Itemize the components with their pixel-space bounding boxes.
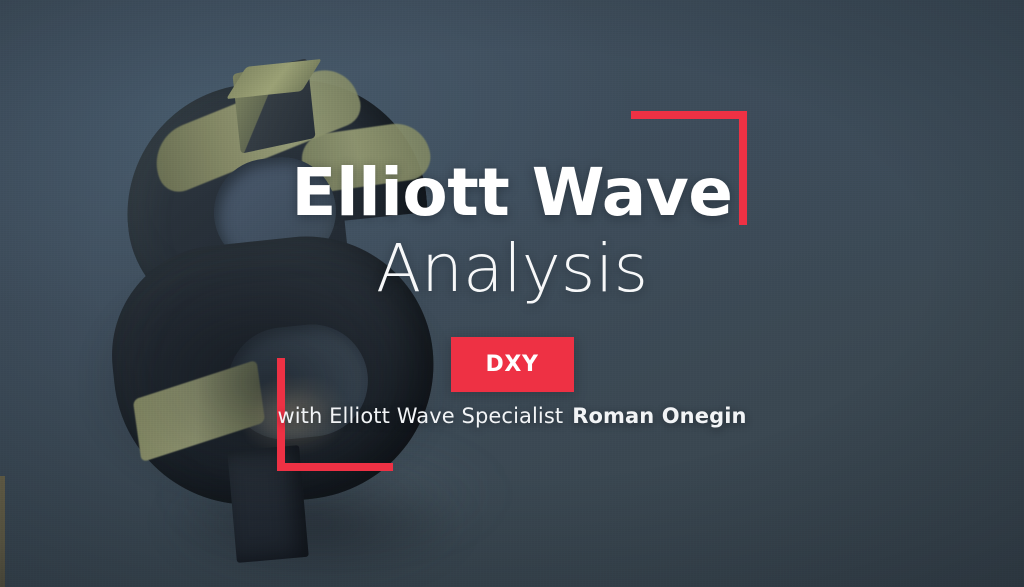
badge-row: DXY [0,337,1024,392]
byline-lead: with Elliott Wave Specialist [277,404,563,428]
status-badge: DXY [451,337,574,392]
page-title-line-2: Analysis [0,236,1024,302]
byline: with Elliott Wave SpecialistRoman Onegin [0,404,1024,428]
slide-content: Elliott Wave Analysis DXY with Elliott W… [0,0,1024,587]
byline-presenter-name: Roman Onegin [572,404,746,428]
title-slide: Elliott Wave Analysis DXY with Elliott W… [0,0,1024,587]
page-title-line-1: Elliott Wave [0,160,1024,226]
